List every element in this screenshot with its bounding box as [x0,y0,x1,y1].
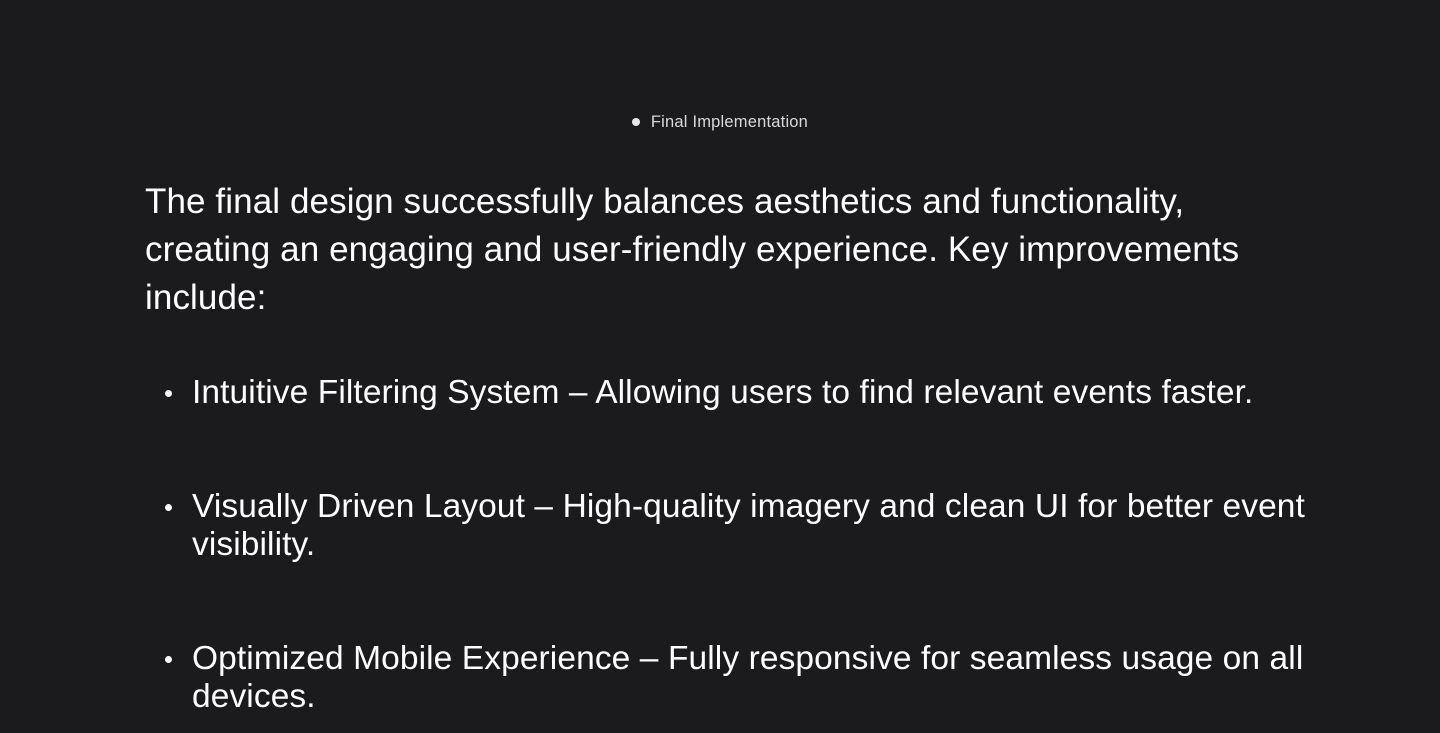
list-bullet-icon [165,656,172,663]
list-item-text: Intuitive Filtering System – Allowing us… [192,374,1305,412]
list-item: Intuitive Filtering System – Allowing us… [145,374,1305,412]
bullet-dot-icon [632,118,640,126]
intro-paragraph: The final design successfully balances a… [145,178,1277,322]
list-item: Visually Driven Layout – High-quality im… [145,488,1305,564]
slide-canvas: Final Implementation The final design su… [0,0,1440,733]
list-bullet-icon [165,504,172,511]
list-item-text: Visually Driven Layout – High-quality im… [192,488,1305,564]
improvements-list: Intuitive Filtering System – Allowing us… [145,374,1305,716]
list-item-text: Optimized Mobile Experience – Fully resp… [192,640,1305,716]
section-eyebrow: Final Implementation [0,110,1440,134]
slide-content: The final design successfully balances a… [145,178,1305,716]
section-label: Final Implementation [651,110,808,134]
list-item: Optimized Mobile Experience – Fully resp… [145,640,1305,716]
list-bullet-icon [165,390,172,397]
